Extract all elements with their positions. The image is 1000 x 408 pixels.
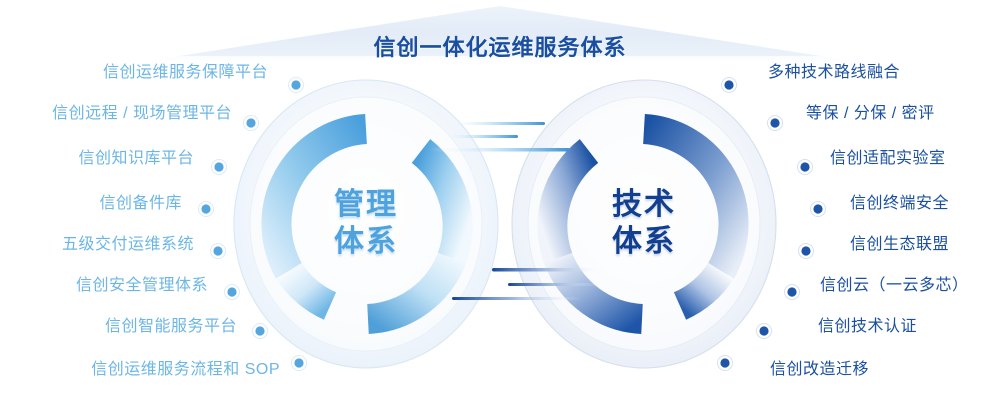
right-connector-dot-7[interactable] [720,358,729,367]
left-label-7[interactable]: 信创运维服务流程和 SOP [0,360,280,380]
right-connector-dot-2[interactable] [800,162,809,171]
left-label-0[interactable]: 信创运维服务保障平台 [0,63,268,83]
right-connector-dot-3[interactable] [813,204,822,213]
right-label-4[interactable]: 信创生态联盟 [850,235,1000,255]
left-connector-dot-3[interactable] [201,204,210,213]
right-ring-center-line1: 技术 [564,186,724,223]
left-connector-dot-1[interactable] [246,118,255,127]
left-connector-dot-6[interactable] [255,326,264,335]
right-label-2[interactable]: 信创适配实验室 [830,149,1000,169]
infographic-canvas: 信创一体化运维服务体系 管理 体系 技术 体系 信创运维服务保障平台信创远程 /… [0,0,1000,408]
left-connector-dot-7[interactable] [294,358,303,367]
left-label-6[interactable]: 信创智能服务平台 [0,317,237,337]
left-ring-center-line2: 体系 [286,223,446,260]
right-label-1[interactable]: 等保 / 分保 / 密评 [806,104,1000,124]
page-title: 信创一体化运维服务体系 [0,30,1000,62]
left-connector-dot-4[interactable] [213,246,222,255]
right-label-0[interactable]: 多种技术路线融合 [768,63,1000,83]
left-ring-center-line1: 管理 [286,186,446,223]
right-label-7[interactable]: 信创改造迁移 [770,360,1000,380]
left-label-2[interactable]: 信创知识库平台 [0,149,194,169]
left-label-3[interactable]: 信创备件库 [0,194,182,214]
right-ring-center-line2: 体系 [564,223,724,260]
left-connector-dot-5[interactable] [227,287,236,296]
left-ring-center-label: 管理 体系 [286,186,446,260]
right-label-3[interactable]: 信创终端安全 [850,194,1000,214]
right-connector-dot-6[interactable] [759,326,768,335]
right-connector-dot-5[interactable] [787,287,796,296]
left-label-4[interactable]: 五级交付运维系统 [0,235,194,255]
left-label-1[interactable]: 信创远程 / 现场管理平台 [0,104,232,124]
left-label-5[interactable]: 信创安全管理体系 [0,276,208,296]
right-connector-dot-1[interactable] [770,118,779,127]
right-label-5[interactable]: 信创云（一云多芯） [820,276,1000,296]
right-label-6[interactable]: 信创技术认证 [818,317,1000,337]
right-connector-dot-4[interactable] [801,246,810,255]
left-connector-dot-2[interactable] [214,162,223,171]
right-ring-center-label: 技术 体系 [564,186,724,260]
left-connector-dot-0[interactable] [291,80,300,89]
right-connector-dot-0[interactable] [724,80,733,89]
